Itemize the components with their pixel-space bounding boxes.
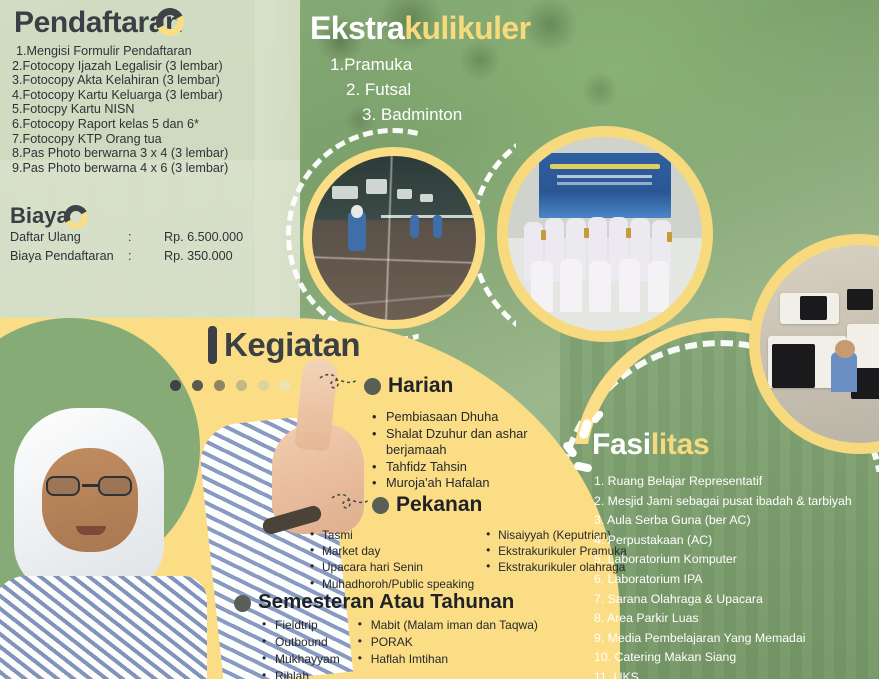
biaya-label: Biaya Pendaftaran <box>10 249 128 263</box>
section-title-ekstrakulikuler: Ekstrakulikuler <box>310 10 530 47</box>
list-item: 1.Pramuka <box>330 52 462 77</box>
dot-decoration <box>170 380 291 391</box>
student-portrait-photo <box>0 390 216 679</box>
list-item: 5.Fotocpy Kartu NISN <box>12 102 292 117</box>
swirl-icon <box>330 492 374 514</box>
list-item: 4. Perpustakaan (AC) <box>594 531 879 551</box>
pekanan-bullet <box>372 497 389 514</box>
table-row: Daftar Ulang : Rp. 6.500.000 <box>10 230 270 244</box>
list-item: Mabit (Malam iman dan Taqwa) <box>358 617 538 634</box>
biaya-separator: : <box>128 249 164 263</box>
biaya-table: Daftar Ulang : Rp. 6.500.000 Biaya Penda… <box>10 230 270 268</box>
list-item: 8.Pas Photo berwarna 3 x 4 (3 lembar) <box>12 146 292 161</box>
title-part-1: Fasi <box>592 428 651 461</box>
semesteran-column-1: Fieldtrip Outbound Mukhayyam Rihlah <box>262 617 340 679</box>
list-item: Rihlah <box>262 668 340 679</box>
list-item: •Tahfidz Tahsin <box>372 459 582 476</box>
list-item: 6. Laboratorium IPA <box>594 570 879 590</box>
list-item: 10. Catering Makan Siang <box>594 648 879 668</box>
title-part-2: litas <box>651 428 710 461</box>
kegiatan-accent-bar <box>208 326 217 364</box>
list-item: •Pembiasaan Dhuha <box>372 409 582 426</box>
list-item: PORAK <box>358 634 538 651</box>
biaya-label: Daftar Ulang <box>10 230 128 244</box>
ekstrakulikuler-list: 1.Pramuka 2. Futsal 3. Badminton <box>330 52 462 127</box>
student-group-award-photo <box>497 126 713 342</box>
list-item: 3. Badminton <box>330 102 462 127</box>
list-item: 3. Aula Serba Guna (ber AC) <box>594 511 879 531</box>
list-item: •Shalat Dzuhur dan ashar berjamaah <box>372 426 582 459</box>
pekanan-column-1: Tasmi Market day Upacara hari Senin Muha… <box>310 527 474 592</box>
list-item: Outbound <box>262 634 340 651</box>
list-item: 7.Fotocopy KTP Orang tua <box>12 132 292 147</box>
list-item: 2. Futsal <box>330 77 462 102</box>
list-item: 5. Laboratorium Komputer <box>594 550 879 570</box>
biaya-value: Rp. 350.000 <box>164 249 233 263</box>
list-item: Market day <box>310 543 474 559</box>
list-item: 7. Sarana Olahraga & Upacara <box>594 590 879 610</box>
list-item: 9.Pas Photo berwarna 4 x 6 (3 lembar) <box>12 161 292 176</box>
list-item: Fieldtrip <box>262 617 340 634</box>
subsection-title-semesteran: Semesteran Atau Tahunan <box>258 590 514 614</box>
list-item: 4.Fotocopy Kartu Keluarga (3 lembar) <box>12 88 292 103</box>
swirl-icon <box>318 372 362 394</box>
list-item: 2. Mesjid Jami sebagai pusat ibadah & ta… <box>594 492 879 512</box>
list-item: 3.Fotocopy Akta Kelahiran (3 lembar) <box>12 73 292 88</box>
list-item: 1.Mengisi Formulir Pendaftaran <box>12 44 292 59</box>
list-item: •Muroja'ah Hafalan <box>372 475 582 492</box>
pendaftaran-list: 1.Mengisi Formulir Pendaftaran 2.Fotocop… <box>12 44 292 175</box>
list-item: Upacara hari Senin <box>310 559 474 575</box>
section-title-biaya: Biaya <box>10 203 69 229</box>
semesteran-lists: Fieldtrip Outbound Mukhayyam Rihlah Mabi… <box>262 617 562 679</box>
list-item: Haflah Imtihan <box>358 651 538 668</box>
list-item: 8. Area Parkir Luas <box>594 609 879 629</box>
subsection-title-harian: Harian <box>388 374 453 398</box>
harian-list: •Pembiasaan Dhuha •Shalat Dzuhur dan ash… <box>372 409 582 492</box>
fasilitas-list: 1. Ruang Belajar Representatif 2. Mesjid… <box>594 472 879 679</box>
table-row: Biaya Pendaftaran : Rp. 350.000 <box>10 249 270 263</box>
biaya-value: Rp. 6.500.000 <box>164 230 243 244</box>
section-title-kegiatan: Kegiatan <box>224 326 360 364</box>
list-item: 9. Media Pembelajaran Yang Memadai <box>594 629 879 649</box>
list-item: 6.Fotocopy Raport kelas 5 dan 6* <box>12 117 292 132</box>
harian-bullet <box>364 378 381 395</box>
subsection-title-pekanan: Pekanan <box>396 493 482 517</box>
biaya-separator: : <box>128 230 164 244</box>
list-item: 11. UKS <box>594 668 879 679</box>
list-item: Mukhayyam <box>262 651 340 668</box>
list-item: 2.Fotocopy Ijazah Legalisir (3 lembar) <box>12 59 292 74</box>
semesteran-column-2: Mabit (Malam iman dan Taqwa) PORAK Hafla… <box>358 617 538 679</box>
list-item: 1. Ruang Belajar Representatif <box>594 472 879 492</box>
section-title-fasilitas: Fasilitas <box>592 428 709 462</box>
poster-canvas: Pendaftaran 1.Mengisi Formulir Pendaftar… <box>0 0 879 679</box>
pekanan-lists: Tasmi Market day Upacara hari Senin Muha… <box>310 527 585 592</box>
semesteran-bullet <box>234 595 251 612</box>
badminton-court-photo <box>303 147 485 329</box>
title-part-2: kulikuler <box>404 10 530 46</box>
list-item: Tasmi <box>310 527 474 543</box>
title-part-1: Ekstra <box>310 10 404 46</box>
